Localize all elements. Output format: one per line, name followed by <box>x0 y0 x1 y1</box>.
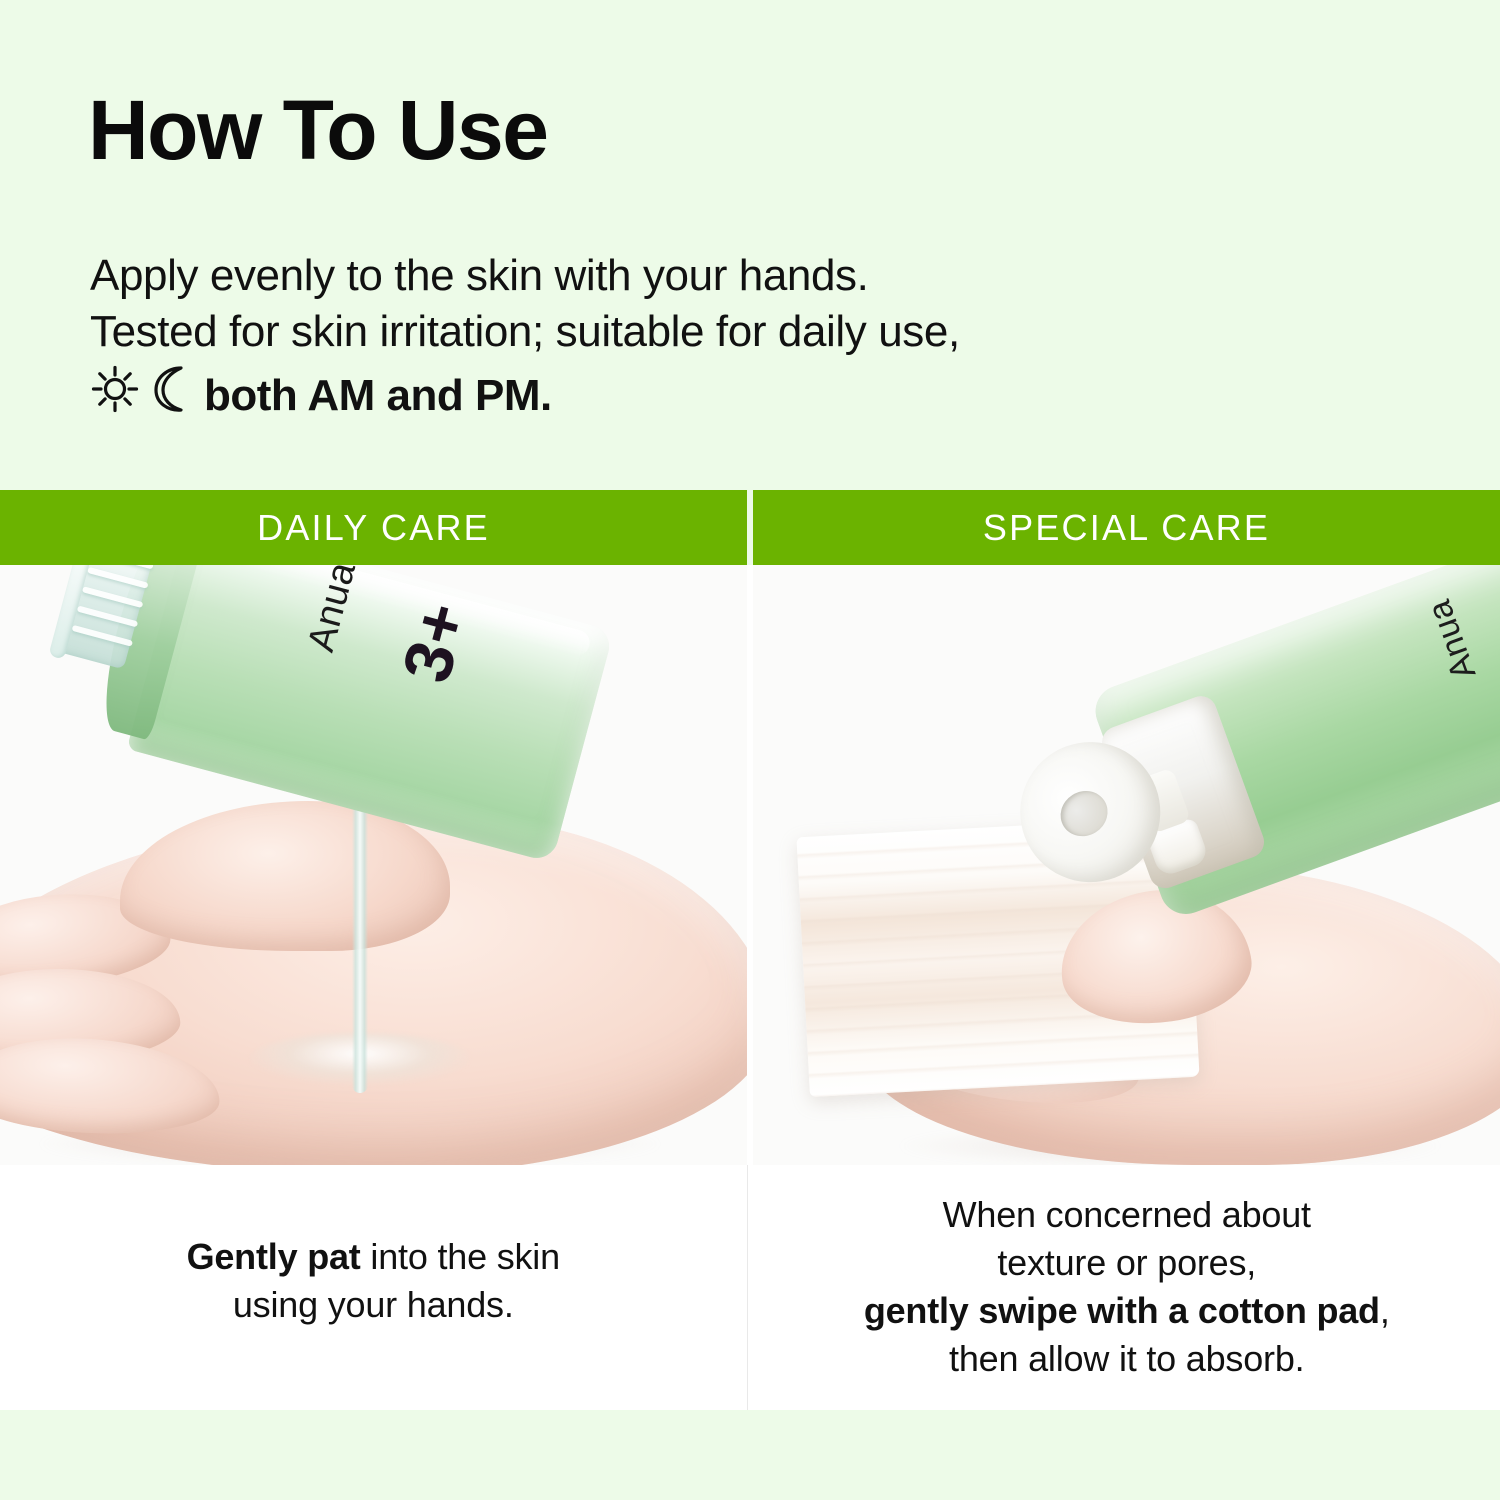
caption-row: Gently pat into the skin using your hand… <box>0 1165 1500 1410</box>
caption-line: then allow it to absorb. <box>864 1335 1390 1383</box>
photo-daily-care: Anua 3+ <box>0 565 747 1165</box>
am-pm-label: both AM and PM. <box>204 368 552 424</box>
banner-label-daily-care: DAILY CARE <box>0 490 747 565</box>
bottle-thread <box>87 567 148 589</box>
caption-line-rest: into the skin <box>361 1236 560 1277</box>
intro-line-1: Apply evenly to the skin with your hands… <box>90 248 960 304</box>
page-title: How To Use <box>88 88 547 172</box>
how-to-use-infographic: How To Use Apply evenly to the skin with… <box>0 0 1500 1500</box>
caption-column-divider <box>747 1165 754 1410</box>
photo-row: Anua 3+ Anua <box>0 565 1500 1165</box>
caption-special-care: When concerned about texture or pores, g… <box>754 1165 1500 1410</box>
caption-text: Gently pat into the skin using your hand… <box>187 1165 560 1329</box>
sun-icon <box>90 364 140 428</box>
cap-inner-ring <box>1052 782 1116 845</box>
caption-text: When concerned about texture or pores, g… <box>864 1165 1390 1383</box>
banner-label-special-care: SPECIAL CARE <box>753 490 1500 565</box>
caption-line-rest: , <box>1380 1290 1390 1331</box>
caption-line: When concerned about <box>864 1191 1390 1239</box>
bottle-thread <box>72 625 133 647</box>
caption-daily-care: Gently pat into the skin using your hand… <box>0 1165 747 1410</box>
intro-text-block: Apply evenly to the skin with your hands… <box>90 248 960 428</box>
header-section: How To Use Apply evenly to the skin with… <box>0 0 1500 490</box>
caption-line: gently swipe with a cotton pad, <box>864 1287 1390 1335</box>
bottle-thread <box>77 606 138 628</box>
caption-line: texture or pores, <box>864 1239 1390 1287</box>
caption-line: Gently pat into the skin <box>187 1233 560 1281</box>
section-banner: DAILY CARE SPECIAL CARE <box>0 490 1500 565</box>
intro-line-2: Tested for skin irritation; suitable for… <box>90 304 960 360</box>
caption-bold-phrase: Gently pat <box>187 1236 361 1277</box>
footer-band <box>0 1410 1500 1500</box>
intro-line-3: both AM and PM. <box>90 364 960 428</box>
caption-bold-phrase: gently swipe with a cotton pad <box>864 1290 1380 1331</box>
photo-special-care: Anua <box>753 565 1500 1165</box>
caption-line: using your hands. <box>187 1281 560 1329</box>
moon-icon <box>150 364 194 428</box>
bottle-thread <box>92 565 153 569</box>
bottle-thread <box>82 586 143 608</box>
